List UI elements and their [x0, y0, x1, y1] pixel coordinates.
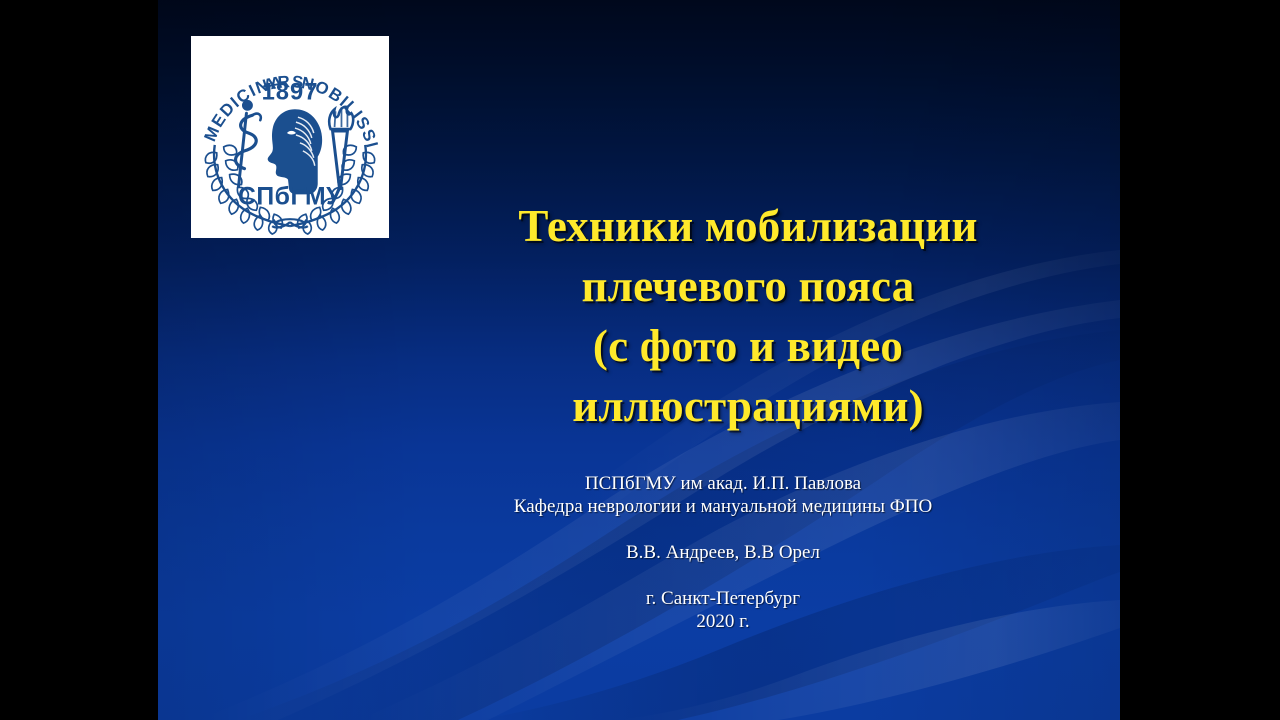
- spbgmu-crest-icon: MEDICINA ARS NOBILISSIMA 1897: [191, 36, 389, 238]
- slide-viewport: MEDICINA ARS NOBILISSIMA 1897: [0, 0, 1280, 720]
- presentation-slide: MEDICINA ARS NOBILISSIMA 1897: [158, 0, 1120, 720]
- title-line-4: иллюстрациями): [403, 376, 1093, 436]
- title-line-1: Техники мобилизации: [403, 196, 1093, 256]
- subtitle-spacer-2: [343, 564, 1103, 587]
- letterbox-bar-left: [0, 0, 158, 720]
- slide-subtitle: ПСПбГМУ им акад. И.П. Павлова Кафедра не…: [343, 472, 1103, 633]
- slide-title: Техники мобилизации плечевого пояса (с ф…: [403, 196, 1093, 436]
- year-line: 2020 г.: [343, 610, 1103, 633]
- institution-line-1: ПСПбГМУ им акад. И.П. Павлова: [343, 472, 1103, 495]
- title-line-2: плечевого пояса: [403, 256, 1093, 316]
- city-line: г. Санкт-Петербург: [343, 587, 1103, 610]
- title-line-3: (с фото и видео: [403, 316, 1093, 376]
- subtitle-spacer-1: [343, 518, 1103, 541]
- authors-line: В.В. Андреев, В.В Орел: [343, 541, 1103, 564]
- university-logo: MEDICINA ARS NOBILISSIMA 1897: [191, 36, 389, 238]
- letterbox-bar-right: [1120, 0, 1280, 720]
- institution-line-2: Кафедра неврологии и мануальной медицины…: [343, 495, 1103, 518]
- logo-year-text: 1897: [262, 78, 319, 105]
- logo-abbreviation-text: СПбГМУ: [238, 183, 342, 210]
